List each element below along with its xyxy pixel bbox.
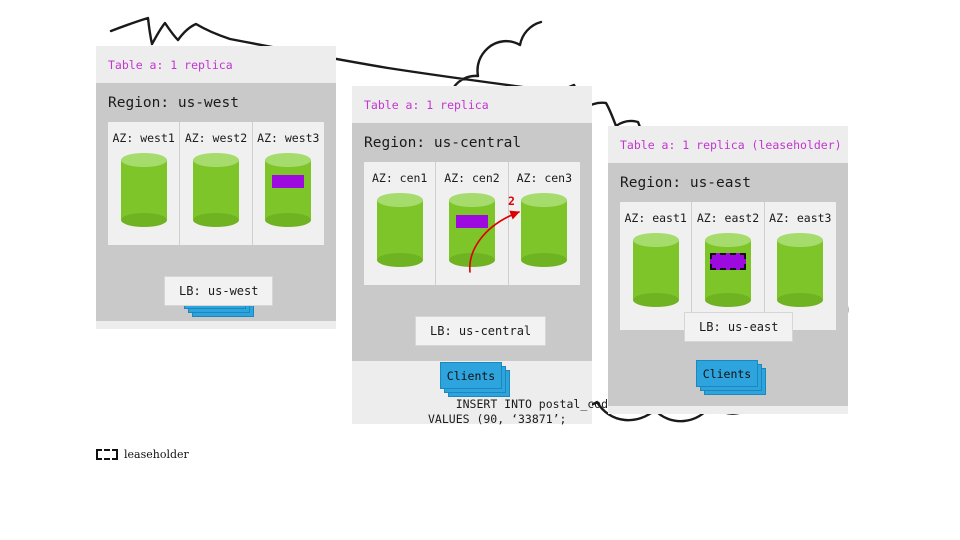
cylinder-bottom xyxy=(377,253,423,267)
cylinder-top xyxy=(633,233,679,247)
region-panel-us-west: Table a: 1 replica Region: us-west AZ: w… xyxy=(96,46,336,329)
region-title-us-west: Region: us-west xyxy=(96,83,336,122)
az-cell-cen2[interactable]: AZ: cen2 xyxy=(435,162,507,285)
cylinder-bottom xyxy=(705,293,751,307)
cylinder-body xyxy=(777,240,823,300)
node-cylinder-west3[interactable] xyxy=(265,153,311,227)
clients-stack-us-east[interactable]: Clients xyxy=(696,360,758,387)
cylinder-body xyxy=(705,240,751,300)
panel-header-us-west: Table a: 1 replica xyxy=(96,46,336,83)
clients-label: Clients xyxy=(696,360,758,387)
cylinder-bottom xyxy=(777,293,823,307)
az-label-east1: AZ: east1 xyxy=(625,211,687,225)
cylinder-top xyxy=(193,153,239,167)
node-cylinder-east1[interactable] xyxy=(633,233,679,307)
cylinder-top xyxy=(265,153,311,167)
az-label-cen3: AZ: cen3 xyxy=(517,171,572,185)
cylinder-bottom xyxy=(449,253,495,267)
cylinder-top xyxy=(449,193,495,207)
arrow-step-label: 2 xyxy=(508,194,515,208)
az-label-cen1: AZ: cen1 xyxy=(372,171,427,185)
az-cell-cen1[interactable]: AZ: cen1 xyxy=(364,162,435,285)
az-cell-west1[interactable]: AZ: west1 xyxy=(108,122,179,245)
cylinder-body xyxy=(377,200,423,260)
az-label-east3: AZ: east3 xyxy=(769,211,831,225)
az-label-west3: AZ: west3 xyxy=(257,131,319,145)
replica-marker-cen2 xyxy=(456,215,488,228)
node-cylinder-east2[interactable] xyxy=(705,233,751,307)
clients-label: Clients xyxy=(440,362,502,389)
cylinder-bottom xyxy=(633,293,679,307)
replica-marker-east2-leaseholder xyxy=(710,253,746,270)
cylinder-top xyxy=(121,153,167,167)
panel-header-us-east: Table a: 1 replica (leaseholder) xyxy=(608,126,848,163)
legend-label: leaseholder xyxy=(124,448,189,461)
az-strip-us-west: AZ: west1 AZ: west2 AZ xyxy=(108,122,324,245)
cylinder-body xyxy=(121,160,167,220)
node-cylinder-cen3[interactable] xyxy=(521,193,567,267)
cylinder-body xyxy=(449,200,495,260)
node-cylinder-west2[interactable] xyxy=(193,153,239,227)
node-cylinder-cen2[interactable] xyxy=(449,193,495,267)
diagram-canvas: Table a: 1 replica Region: us-west AZ: w… xyxy=(0,0,960,540)
cylinder-bottom xyxy=(193,213,239,227)
replica-marker-west3 xyxy=(272,175,304,188)
az-label-west1: AZ: west1 xyxy=(113,131,175,145)
az-label-west2: AZ: west2 xyxy=(185,131,247,145)
load-balancer-us-east[interactable]: LB: us-east xyxy=(684,312,793,342)
az-cell-east2[interactable]: AZ: east2 xyxy=(691,202,763,330)
cylinder-bottom xyxy=(265,213,311,227)
cylinder-top xyxy=(705,233,751,247)
node-cylinder-west1[interactable] xyxy=(121,153,167,227)
cylinder-top xyxy=(377,193,423,207)
leaseholder-swatch-icon xyxy=(96,449,118,460)
az-strip-us-east: AZ: east1 AZ: east2 xyxy=(620,202,836,330)
cylinder-bottom xyxy=(121,213,167,227)
panel-header-us-central: Table a: 1 replica xyxy=(352,86,592,123)
az-cell-cen3[interactable]: AZ: cen3 xyxy=(508,162,580,285)
az-label-cen2: AZ: cen2 xyxy=(444,171,499,185)
cylinder-body xyxy=(265,160,311,220)
cylinder-top xyxy=(777,233,823,247)
region-panel-us-east: Table a: 1 replica (leaseholder) Region:… xyxy=(608,126,848,414)
clients-stack-us-central[interactable]: Clients xyxy=(440,362,502,389)
az-strip-us-central: AZ: cen1 AZ: cen2 xyxy=(364,162,580,285)
load-balancer-us-west[interactable]: LB: us-west xyxy=(164,276,273,306)
az-cell-west2[interactable]: AZ: west2 xyxy=(179,122,251,245)
cylinder-body xyxy=(633,240,679,300)
az-label-east2: AZ: east2 xyxy=(697,211,759,225)
cylinder-body xyxy=(193,160,239,220)
legend: leaseholder xyxy=(96,448,189,461)
az-cell-east1[interactable]: AZ: east1 xyxy=(620,202,691,330)
az-cell-east3[interactable]: AZ: east3 xyxy=(764,202,836,330)
node-cylinder-cen1[interactable] xyxy=(377,193,423,267)
cylinder-body xyxy=(521,200,567,260)
az-cell-west3[interactable]: AZ: west3 xyxy=(252,122,324,245)
region-title-us-central: Region: us-central xyxy=(352,123,592,162)
region-title-us-east: Region: us-east xyxy=(608,163,848,202)
cylinder-top xyxy=(521,193,567,207)
node-cylinder-east3[interactable] xyxy=(777,233,823,307)
cylinder-bottom xyxy=(521,253,567,267)
load-balancer-us-central[interactable]: LB: us-central xyxy=(415,316,546,346)
